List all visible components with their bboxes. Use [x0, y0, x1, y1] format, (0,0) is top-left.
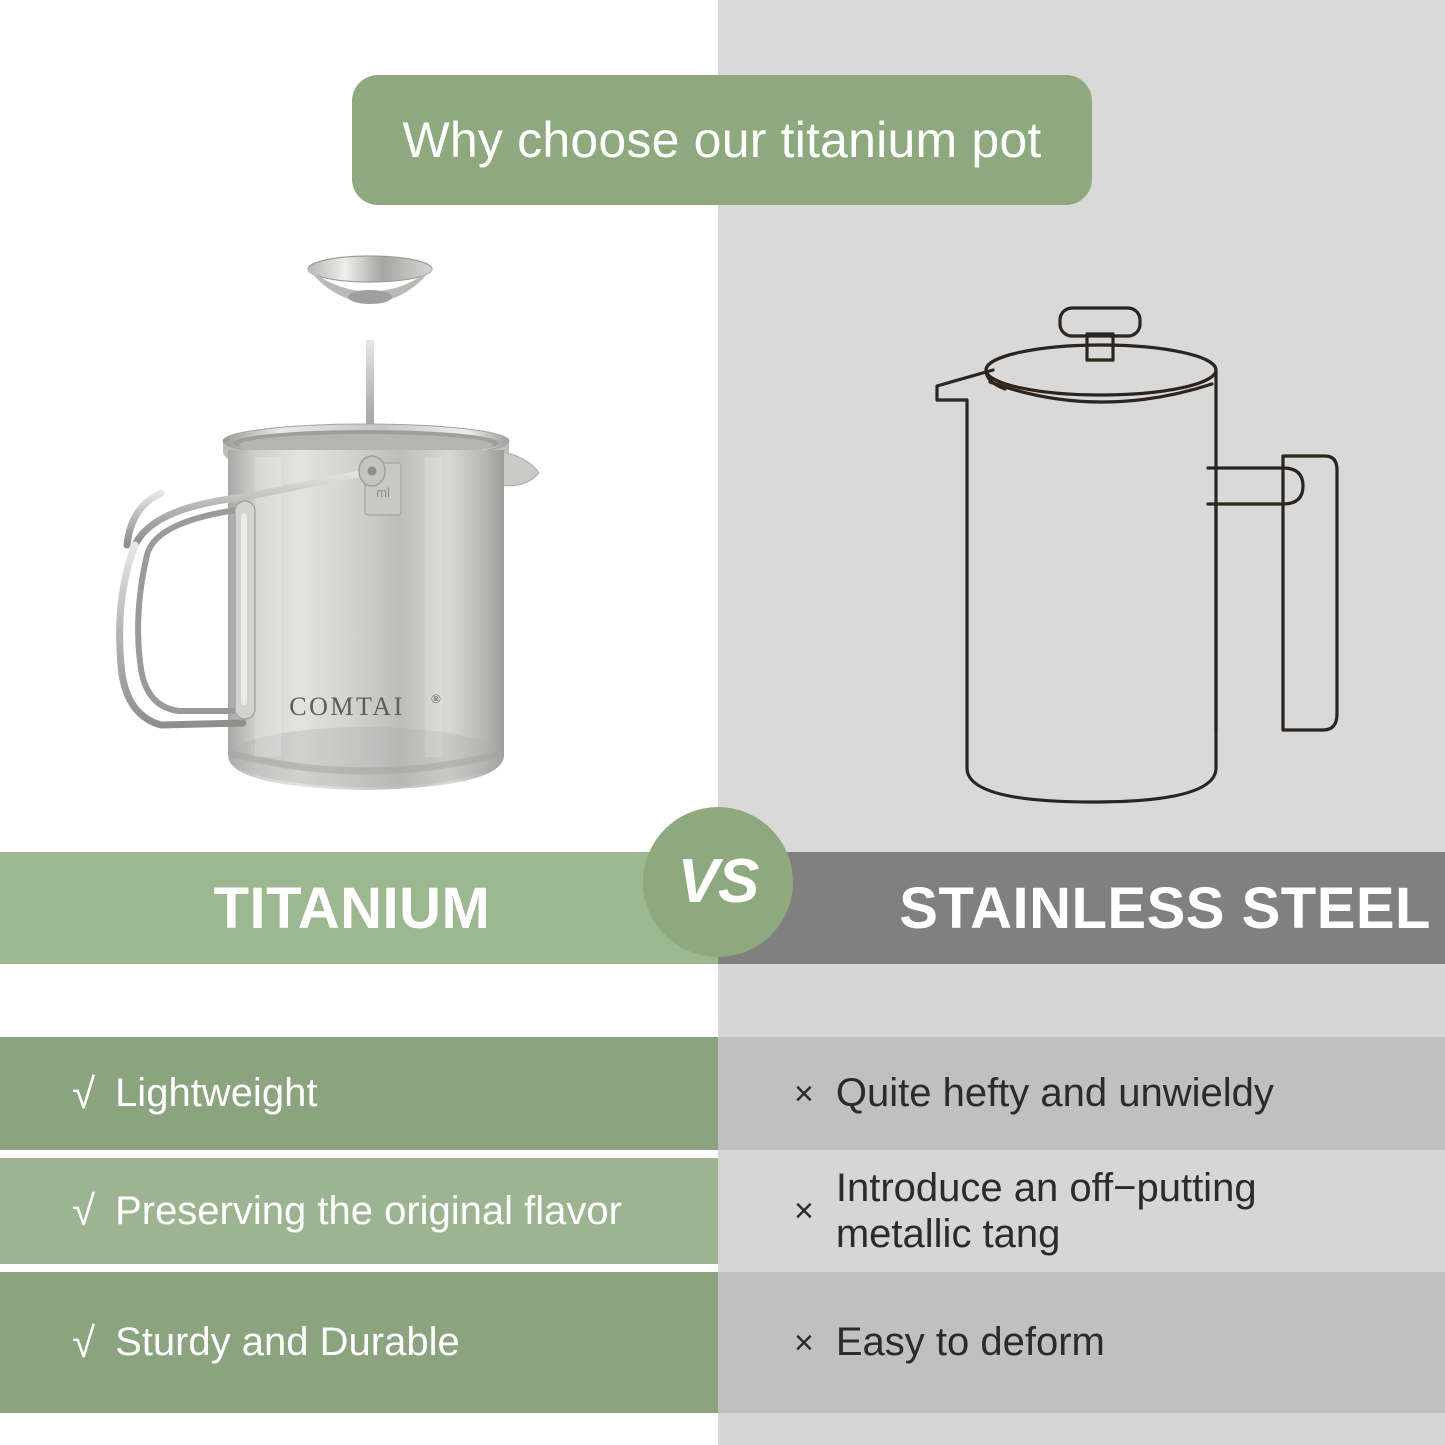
steel-feature-text: Easy to deform — [836, 1319, 1105, 1365]
gap-left — [0, 1150, 718, 1158]
row-spacer-bottom — [0, 1413, 1445, 1445]
banner-title: Why choose our titanium pot — [402, 111, 1041, 169]
vs-badge: VS — [643, 807, 793, 957]
check-icon: √ — [72, 1190, 95, 1232]
spacer-right — [718, 1413, 1445, 1445]
titanium-pot-image: ml COMTAI ® — [95, 245, 595, 815]
steel-title: STAINLESS STEEL — [899, 875, 1431, 942]
titanium-feature-cell: √ Preserving the original flavor — [0, 1158, 718, 1264]
titanium-feature-cell: √ Sturdy and Durable — [0, 1272, 718, 1413]
steel-feature-cell: × Introduce an off−putting metallic tang — [718, 1158, 1445, 1264]
comparison-row: √ Lightweight × Quite hefty and unwieldy — [0, 1037, 1445, 1150]
vs-label: VS — [678, 851, 759, 913]
cross-icon: × — [794, 1194, 814, 1228]
spacer-left — [0, 964, 718, 1037]
titanium-feature-cell: √ Lightweight — [0, 1037, 718, 1150]
header-banner: Why choose our titanium pot — [352, 75, 1092, 205]
gap-left — [0, 1264, 718, 1272]
row-spacer-top — [0, 964, 1445, 1037]
titanium-feature-text: Lightweight — [115, 1070, 317, 1116]
brand-text: COMTAI — [289, 692, 404, 721]
infographic-page: Why choose our titanium pot — [0, 0, 1445, 1445]
svg-text:ml: ml — [376, 485, 390, 500]
comparison-row: √ Sturdy and Durable × Easy to deform — [0, 1272, 1445, 1413]
cross-icon: × — [794, 1326, 814, 1360]
steel-feature-text: Introduce an off−putting metallic tang — [836, 1165, 1257, 1258]
svg-text:®: ® — [431, 691, 441, 706]
check-icon: √ — [72, 1322, 95, 1364]
spacer-left — [0, 1413, 718, 1445]
check-icon: √ — [72, 1073, 95, 1115]
steel-feature-cell: × Quite hefty and unwieldy — [718, 1037, 1445, 1150]
comparison-row: √ Preserving the original flavor × Intro… — [0, 1158, 1445, 1264]
row-gap — [0, 1150, 1445, 1158]
titanium-title: TITANIUM — [214, 875, 491, 942]
comparison-rows: √ Lightweight × Quite hefty and unwieldy… — [0, 964, 1445, 1445]
row-gap — [0, 1264, 1445, 1272]
titanium-title-band: TITANIUM — [0, 852, 718, 964]
titanium-feature-text: Sturdy and Durable — [115, 1319, 460, 1365]
spacer-right — [718, 964, 1445, 1037]
titanium-feature-text: Preserving the original flavor — [115, 1188, 622, 1234]
gap-right — [718, 1264, 1445, 1272]
stainless-steel-pot-image — [905, 290, 1355, 820]
steel-feature-cell: × Easy to deform — [718, 1272, 1445, 1413]
cross-icon: × — [794, 1077, 814, 1111]
steel-title-band: STAINLESS STEEL — [718, 852, 1445, 964]
gap-right — [718, 1150, 1445, 1158]
product-illustration-area: ml COMTAI ® — [0, 215, 1445, 845]
steel-feature-text: Quite hefty and unwieldy — [836, 1070, 1274, 1116]
